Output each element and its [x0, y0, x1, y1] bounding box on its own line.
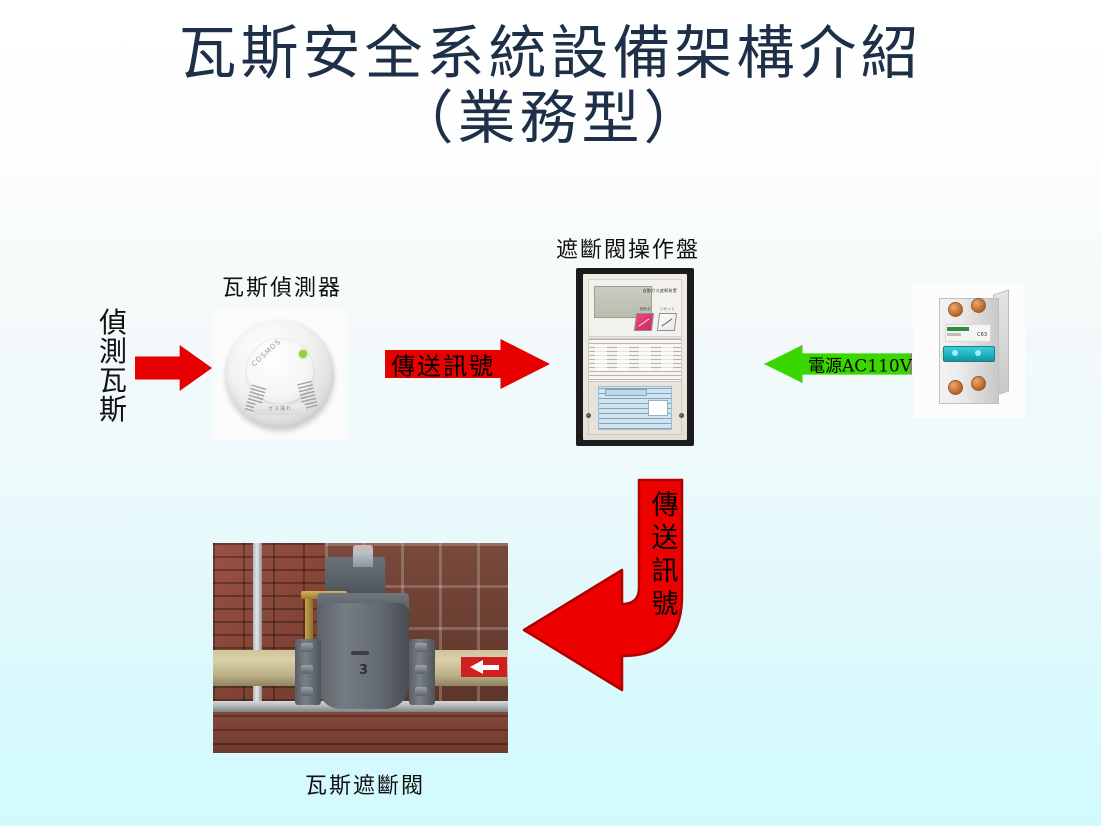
panel-screw-right [679, 413, 684, 418]
label-gas-detector: 瓦斯偵測器 [222, 270, 342, 302]
panel-bottom-section [588, 381, 682, 435]
elbow-label-char-3: 訊 [648, 556, 682, 589]
panel-button-a-label: 遮断弁 [640, 307, 651, 312]
detector-body: COSMOS ガス漏れ [226, 320, 334, 428]
gas-shutoff-valve-image: 3 [213, 543, 508, 753]
page-title: 瓦斯安全系統設備架構介紹 （業務型） [0, 22, 1101, 149]
power-arrow: 電源AC110V [764, 345, 912, 383]
breaker-terminal-top-2 [971, 298, 986, 313]
circuit-breaker-image: C63 [913, 284, 1025, 418]
valve-flange-right [409, 639, 435, 705]
detect-arrow-icon [135, 345, 212, 391]
label-detect-gas-char-4: 斯 [96, 395, 130, 424]
valve-size-marking: 3 [359, 663, 368, 678]
label-detect-gas-char-1: 偵 [96, 308, 130, 337]
panel-reset-button [657, 313, 677, 331]
detector-led-icon [299, 350, 307, 358]
breaker-rating-label: C63 [945, 324, 991, 342]
label-gas-shutoff-valve: 瓦斯遮斷閥 [305, 768, 425, 800]
control-panel-image: 自動ガス遮断装置 遮断弁 リセット [576, 268, 694, 446]
title-line-2: （業務型） [0, 87, 1101, 150]
signal-arrow-label: 傳送訊號 [391, 347, 495, 382]
elbow-label-char-1: 傳 [648, 490, 682, 523]
panel-top-section: 自動ガス遮断装置 遮断弁 リセット [588, 279, 682, 337]
elbow-label-char-4: 號 [648, 589, 682, 622]
breaker-rating-text: C63 [977, 332, 987, 338]
power-arrow-label: 電源AC110V [808, 352, 912, 377]
detector-status-strip: ガス漏れ [254, 404, 306, 415]
panel-button-b-label: リセット [660, 307, 675, 312]
breaker-terminal-top-1 [948, 302, 963, 317]
label-detect-gas-char-3: 瓦 [96, 366, 130, 395]
gas-detector-image: COSMOS ガス漏れ [213, 307, 347, 441]
signal-arrow-elbow-label: 傳 送 訊 號 [648, 490, 682, 622]
valve-flow-direction-sticker [461, 657, 507, 677]
slide-canvas: 瓦斯安全系統設備架構介紹 （業務型） 偵 測 瓦 斯 瓦斯偵測器 COSMOS … [0, 0, 1101, 826]
breaker-terminal-bottom-2 [971, 376, 986, 391]
signal-arrow-elbow: 傳 送 訊 號 [516, 478, 696, 698]
panel-blue-instruction-card [598, 386, 672, 430]
elbow-label-char-2: 送 [648, 523, 682, 556]
breaker-toggle-switch [943, 346, 995, 362]
label-shutoff-valve-control-panel: 遮斷閥操作盤 [556, 232, 700, 264]
title-line-1: 瓦斯安全系統設備架構介紹 [0, 22, 1101, 85]
panel-shutoff-button [634, 313, 654, 331]
signal-arrow-horizontal: 傳送訊號 [385, 339, 550, 389]
valve-actuator-cap [353, 545, 373, 567]
breaker-terminal-bottom-1 [948, 380, 963, 395]
valve-indicator-slot [351, 651, 369, 655]
panel-title-text: 自動ガス遮断装置 [643, 288, 677, 294]
label-detect-gas: 偵 測 瓦 斯 [96, 308, 130, 424]
label-detect-gas-char-2: 測 [96, 337, 130, 366]
valve-flange-left [295, 639, 321, 705]
panel-screw-left [586, 413, 591, 418]
valve-body [317, 603, 409, 709]
panel-face: 自動ガス遮断装置 遮断弁 リセット [583, 274, 687, 440]
